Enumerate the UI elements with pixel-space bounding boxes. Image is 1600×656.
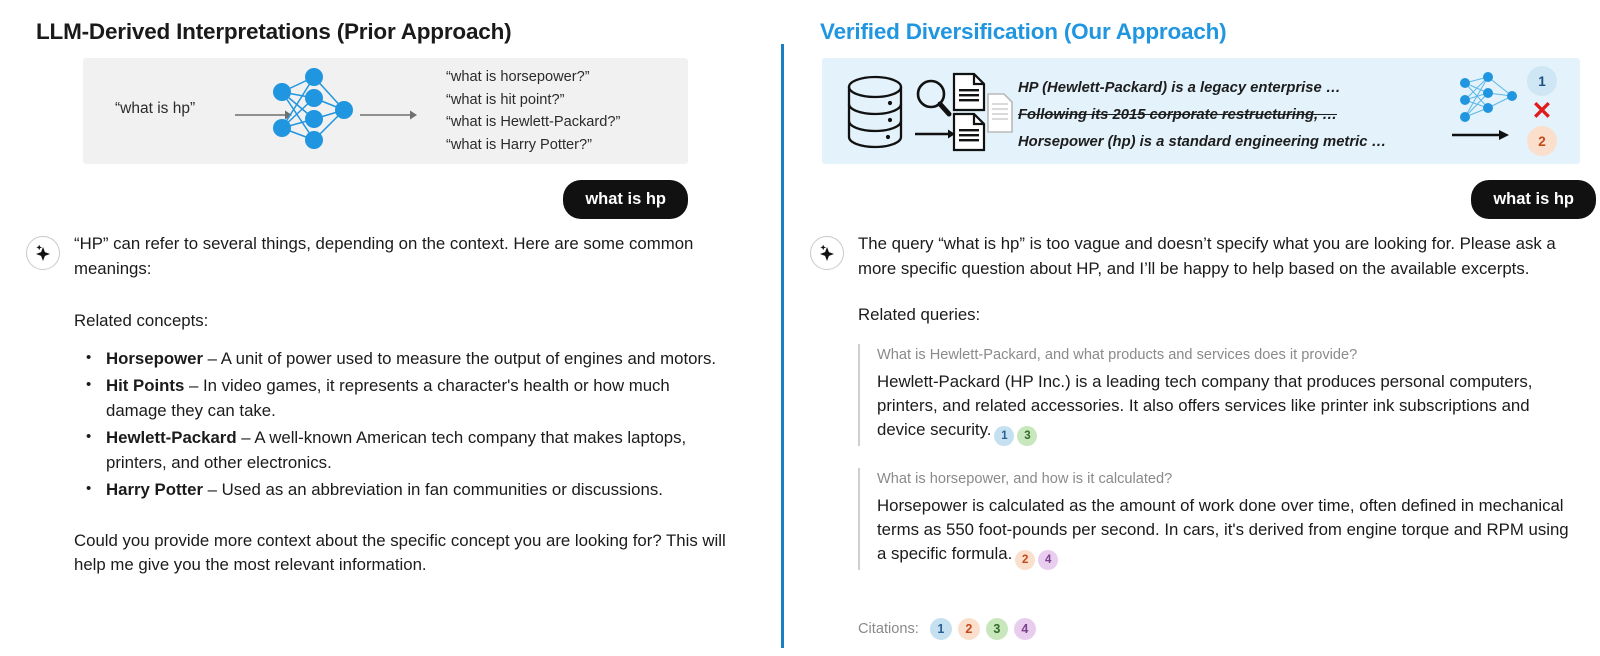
figure-output-line: “what is Harry Potter?” (446, 134, 620, 157)
concepts-list: Horsepower – A unit of power used to mea… (74, 347, 734, 503)
concept-term: Hewlett-Packard (106, 428, 237, 447)
figure-output-line: “what is hit point?” (446, 89, 620, 112)
documents-icon (950, 72, 1016, 157)
concept-dash: – (184, 376, 203, 395)
verification-verdicts: 1 ✕ 2 (1527, 66, 1567, 156)
citations-label: Citations: (858, 621, 919, 637)
assistant-intro-text: “HP” can refer to several things, depend… (74, 232, 734, 281)
citation-badge[interactable]: 4 (1038, 550, 1058, 570)
user-message-bubble: what is hp (1471, 180, 1596, 219)
related-query-answer: Hewlett-Packard (HP Inc.) is a leading t… (877, 370, 1580, 446)
answer-text: Hewlett-Packard (HP Inc.) is a leading t… (877, 372, 1532, 439)
citation-badge-1[interactable]: 1 (930, 618, 952, 640)
assistant-intro-text: The query “what is hp” is too vague and … (858, 232, 1580, 281)
left-panel: LLM-Derived Interpretations (Prior Appro… (0, 0, 781, 656)
excerpt-line-rejected: Following its 2015 corporate restructuri… (1018, 102, 1386, 129)
excerpt-line: HP (Hewlett-Packard) is a legacy enterpr… (1018, 75, 1386, 102)
figure-canvas: LLM-Derived Interpretations (Prior Appro… (0, 0, 1600, 656)
left-assistant-response: “HP” can refer to several things, depend… (74, 232, 734, 578)
citation-badge[interactable]: 2 (1015, 550, 1035, 570)
concept-desc: A unit of power used to measure the outp… (221, 349, 716, 368)
right-arrow-icon (1452, 128, 1510, 146)
sparkle-icon (26, 236, 60, 270)
concept-desc: Used as an abbreviation in fan communiti… (222, 480, 663, 499)
concept-dash: – (237, 428, 255, 447)
right-figure-box: HP (Hewlett-Packard) is a legacy enterpr… (822, 58, 1580, 164)
related-query-block[interactable]: What is Hewlett-Packard, and what produc… (858, 344, 1580, 446)
citation-badge[interactable]: 1 (994, 426, 1014, 446)
assistant-closing-text: Could you provide more context about the… (74, 529, 734, 578)
related-concepts-heading: Related concepts: (74, 309, 734, 334)
related-queries-heading: Related queries: (858, 303, 1580, 328)
right-panel: Verified Diversification (Our Approach) (784, 0, 1600, 656)
retrieved-excerpts: HP (Hewlett-Packard) is a legacy enterpr… (1018, 75, 1386, 156)
citation-badge-3[interactable]: 3 (986, 618, 1008, 640)
related-query-question: What is horsepower, and how is it calcul… (877, 468, 1580, 490)
right-arrow-icon-2 (360, 108, 418, 126)
concept-term: Hit Points (106, 376, 184, 395)
database-icon (844, 74, 906, 155)
right-panel-title: Verified Diversification (Our Approach) (820, 19, 1226, 45)
excerpt-line: Horsepower (hp) is a standard engineerin… (1018, 129, 1386, 156)
citation-badge-4[interactable]: 4 (1014, 618, 1036, 640)
citations-footer: Citations: 1 2 3 4 (858, 618, 1036, 640)
answer-text: Horsepower is calculated as the amount o… (877, 496, 1569, 563)
verdict-badge-accept-1: 1 (1527, 66, 1557, 96)
neural-network-icon (266, 64, 354, 163)
user-message-bubble: what is hp (563, 180, 688, 219)
concept-term: Horsepower (106, 349, 203, 368)
reject-x-icon: ✕ (1527, 96, 1557, 126)
sparkle-icon (810, 236, 844, 270)
list-item: Harry Potter – Used as an abbreviation i… (74, 478, 734, 503)
related-query-block[interactable]: What is horsepower, and how is it calcul… (858, 468, 1580, 570)
left-panel-title: LLM-Derived Interpretations (Prior Appro… (36, 19, 511, 45)
neural-network-icon (1455, 70, 1521, 135)
citation-badge-2[interactable]: 2 (958, 618, 980, 640)
list-item: Horsepower – A unit of power used to mea… (74, 347, 734, 372)
concept-dash: – (203, 349, 221, 368)
related-query-question: What is Hewlett-Packard, and what produc… (877, 344, 1580, 366)
citation-badge[interactable]: 3 (1017, 426, 1037, 446)
concept-dash: – (203, 480, 222, 499)
left-figure-box: “what is hp” (83, 58, 688, 164)
left-figure-outputs: “what is horsepower?” “what is hit point… (446, 66, 620, 156)
right-assistant-response: The query “what is hp” is too vague and … (858, 232, 1580, 570)
verdict-badge-accept-2: 2 (1527, 126, 1557, 156)
left-figure-query: “what is hp” (115, 100, 195, 118)
list-item: Hewlett-Packard – A well-known American … (74, 426, 734, 475)
figure-output-line: “what is horsepower?” (446, 66, 620, 89)
list-item: Hit Points – In video games, it represen… (74, 374, 734, 423)
related-query-answer: Horsepower is calculated as the amount o… (877, 494, 1580, 570)
figure-output-line: “what is Hewlett-Packard?” (446, 111, 620, 134)
concept-term: Harry Potter (106, 480, 203, 499)
